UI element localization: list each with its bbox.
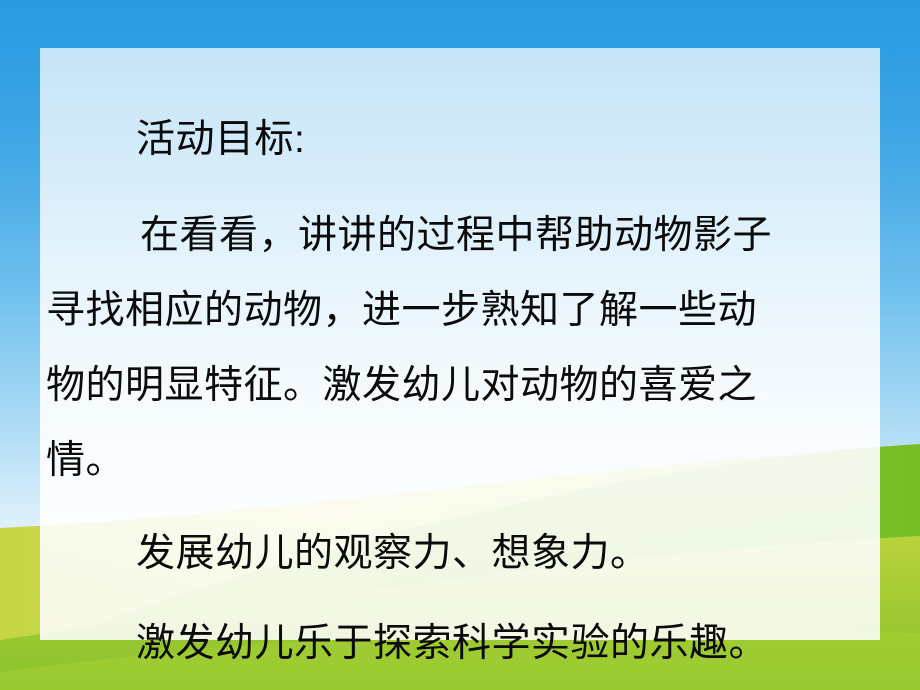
objective-bullet-2: 激发幼儿乐于探索科学实验的乐趣。 [136,624,768,663]
objective-paragraph-line-1: 在看看，讲讲的过程中帮助动物影子 [140,216,772,255]
objective-paragraph-line-3: 物的明显特征。激发幼儿对动物的喜爱之 [46,366,757,405]
slide-text-body: 活动目标: 在看看，讲讲的过程中帮助动物影子 寻找相应的动物，进一步熟知了解一些… [40,48,880,640]
objective-bullet-1: 发展幼儿的观察力、想象力。 [136,534,650,573]
objective-paragraph-line-4: 情。 [46,441,125,480]
objective-paragraph-line-2: 寻找相应的动物，进一步熟知了解一些动 [46,291,757,330]
slide-canvas: 活动目标: 在看看，讲讲的过程中帮助动物影子 寻找相应的动物，进一步熟知了解一些… [0,0,920,690]
objectives-heading: 活动目标: [136,120,305,159]
